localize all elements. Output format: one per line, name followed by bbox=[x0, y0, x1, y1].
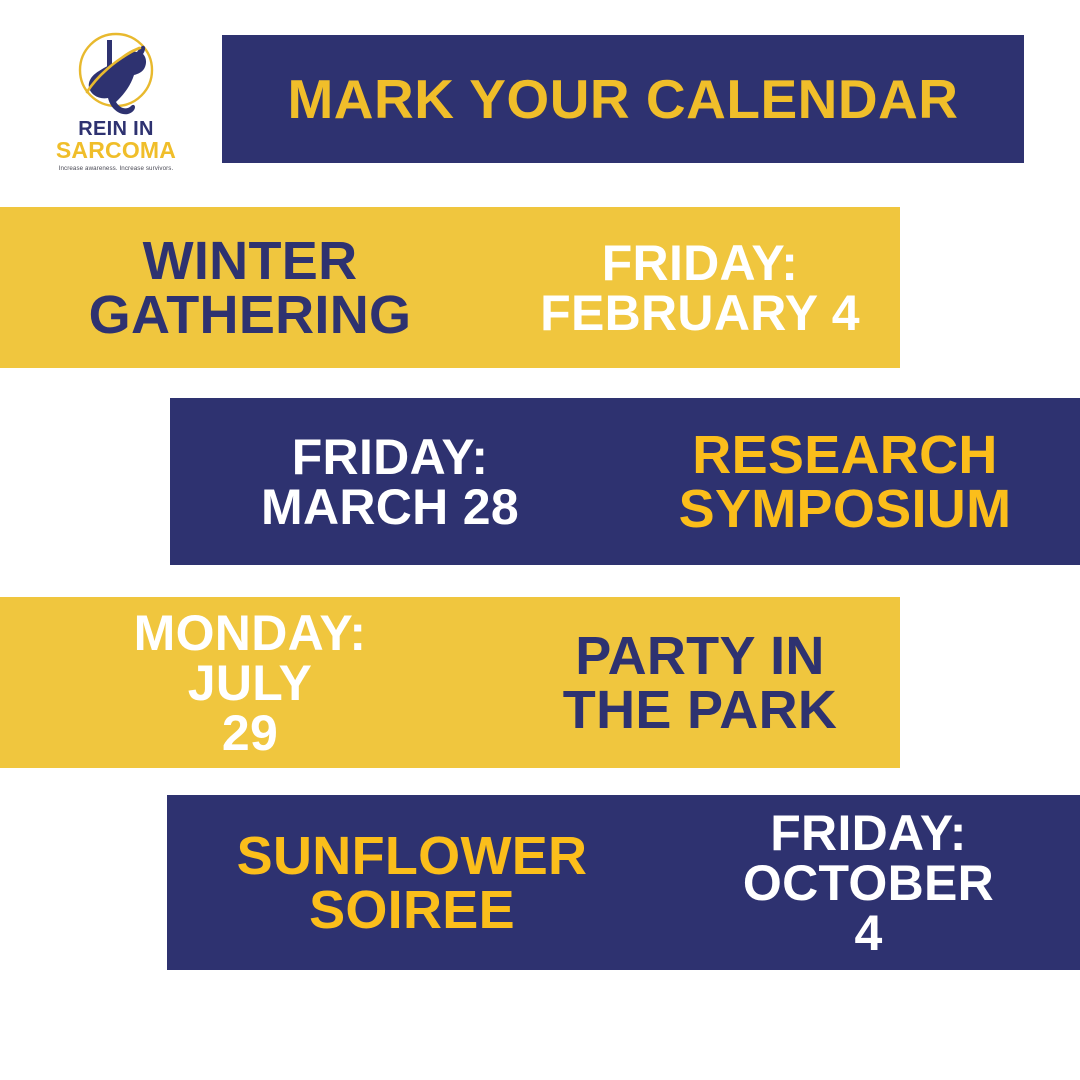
event-row: SUNFLOWER SOIREE FRIDAY: OCTOBER 4 bbox=[167, 795, 1080, 970]
event-name-text: RESEARCH SYMPOSIUM bbox=[679, 428, 1012, 536]
event-date-line: 4 bbox=[743, 908, 994, 958]
organization-logo: REIN IN SARCOMA Increase awareness. Incr… bbox=[52, 26, 180, 166]
event-date-line: FRIDAY: bbox=[743, 808, 994, 858]
event-date-text: FRIDAY: OCTOBER 4 bbox=[743, 808, 994, 958]
calendar-poster: REIN IN SARCOMA Increase awareness. Incr… bbox=[0, 0, 1080, 1080]
event-date-line: MONDAY: bbox=[134, 608, 367, 658]
logo-tagline: Increase awareness. Increase survivors. bbox=[52, 165, 180, 172]
event-date-text: MONDAY: JULY 29 bbox=[134, 608, 367, 758]
event-row: FRIDAY: MARCH 28 RESEARCH SYMPOSIUM bbox=[170, 398, 1080, 565]
event-name-cell: RESEARCH SYMPOSIUM bbox=[610, 398, 1080, 565]
event-name-line: SYMPOSIUM bbox=[679, 482, 1012, 536]
event-name-line: SOIREE bbox=[237, 883, 588, 937]
logo-name-line-2: SARCOMA bbox=[52, 139, 180, 161]
header-banner: MARK YOUR CALENDAR bbox=[222, 35, 1024, 163]
event-date-cell: MONDAY: JULY 29 bbox=[0, 597, 500, 768]
event-date-cell: FRIDAY: FEBRUARY 4 bbox=[500, 207, 900, 368]
event-date-line: 29 bbox=[134, 708, 367, 758]
rearing-horse-in-circle-icon bbox=[66, 26, 166, 118]
event-date-text: FRIDAY: MARCH 28 bbox=[261, 432, 519, 532]
event-date-line: FRIDAY: bbox=[261, 432, 519, 482]
event-date-line: MARCH 28 bbox=[261, 482, 519, 532]
event-name-cell: WINTER GATHERING bbox=[0, 207, 500, 368]
event-name-line: GATHERING bbox=[89, 288, 412, 342]
event-date-cell: FRIDAY: MARCH 28 bbox=[170, 398, 610, 565]
event-row: WINTER GATHERING FRIDAY: FEBRUARY 4 bbox=[0, 207, 900, 368]
event-name-line: SUNFLOWER bbox=[237, 829, 588, 883]
event-date-line: JULY bbox=[134, 658, 367, 708]
event-date-text: FRIDAY: FEBRUARY 4 bbox=[540, 238, 860, 338]
event-row: MONDAY: JULY 29 PARTY IN THE PARK bbox=[0, 597, 900, 768]
event-name-line: WINTER bbox=[89, 234, 412, 288]
page-title: MARK YOUR CALENDAR bbox=[287, 72, 958, 127]
event-name-text: PARTY IN THE PARK bbox=[563, 629, 837, 737]
event-name-line: PARTY IN bbox=[563, 629, 837, 683]
event-date-cell: FRIDAY: OCTOBER 4 bbox=[657, 795, 1080, 970]
event-date-line: FEBRUARY 4 bbox=[540, 288, 860, 338]
event-name-text: WINTER GATHERING bbox=[89, 234, 412, 342]
event-date-line: OCTOBER bbox=[743, 858, 994, 908]
event-name-line: RESEARCH bbox=[679, 428, 1012, 482]
event-name-cell: SUNFLOWER SOIREE bbox=[167, 795, 657, 970]
event-name-text: SUNFLOWER SOIREE bbox=[237, 829, 588, 937]
event-name-cell: PARTY IN THE PARK bbox=[500, 597, 900, 768]
event-date-line: FRIDAY: bbox=[540, 238, 860, 288]
event-name-line: THE PARK bbox=[563, 683, 837, 737]
